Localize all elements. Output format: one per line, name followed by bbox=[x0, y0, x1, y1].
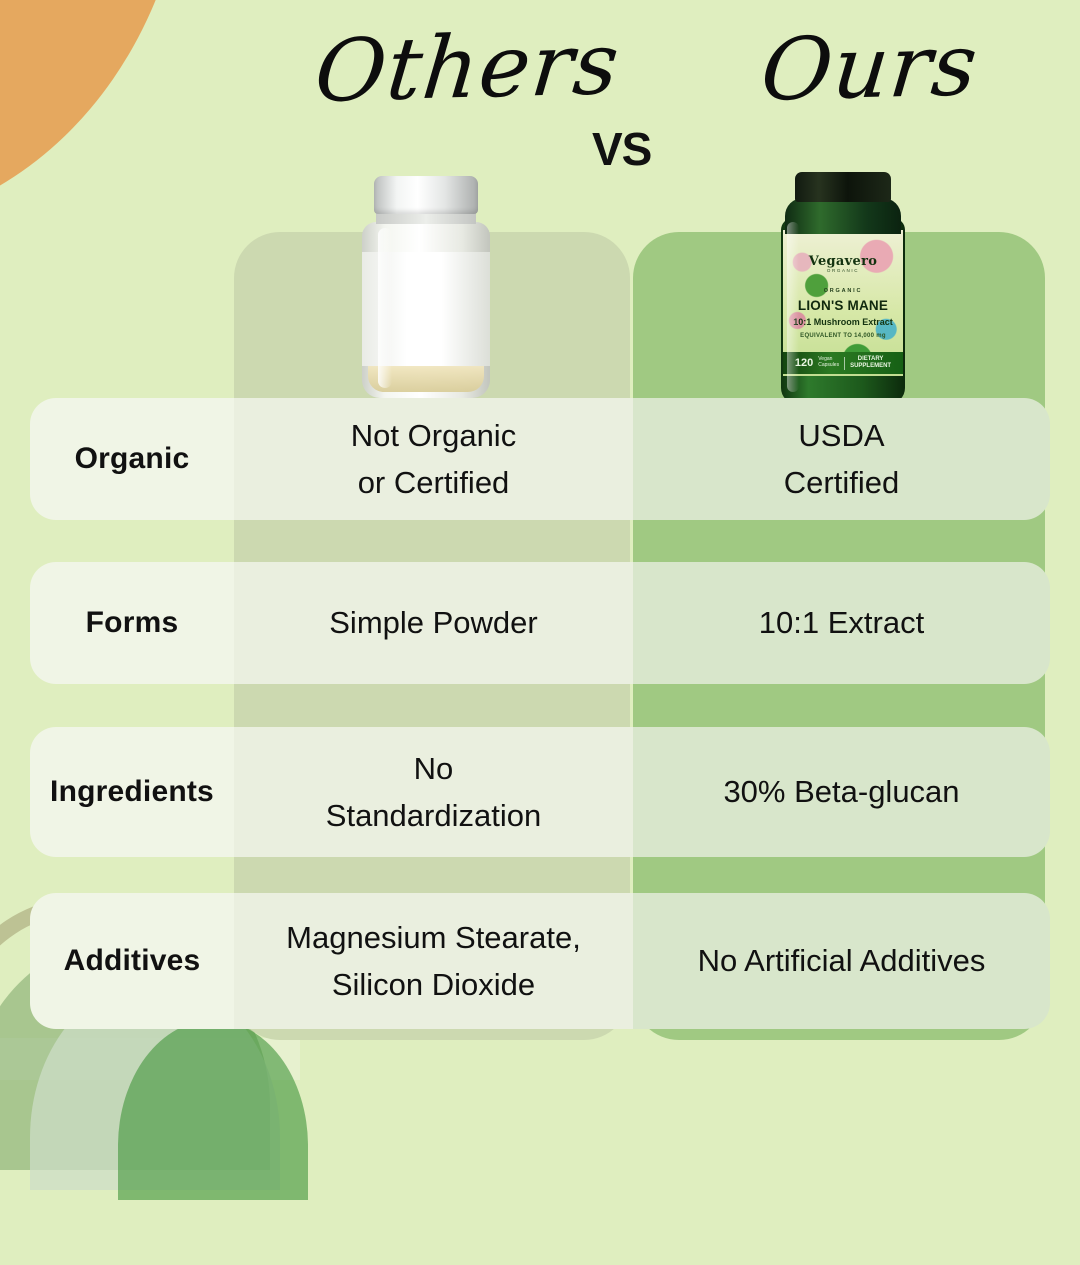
row-value-others: No Standardization bbox=[234, 727, 633, 857]
comparison-infographic: Others VS Ours Vegavero ORGANIC ORGANIC … bbox=[0, 0, 1080, 1080]
row-value-others: Simple Powder bbox=[234, 562, 633, 684]
row-value-others: Not Organic or Certified bbox=[234, 398, 633, 520]
row-value-ours: USDA Certified bbox=[633, 398, 1050, 520]
row-label: Forms bbox=[30, 562, 234, 684]
row-value-ours: 30% Beta-glucan bbox=[633, 727, 1050, 857]
row-value-ours: 10:1 Extract bbox=[633, 562, 1050, 684]
row-value-others-line1: No bbox=[414, 751, 454, 786]
table-row: Forms Simple Powder 10:1 Extract bbox=[30, 562, 1050, 684]
row-value-others-line2: Silicon Dioxide bbox=[332, 967, 535, 1002]
row-label: Organic bbox=[30, 398, 234, 520]
table-row: Ingredients No Standardization 30% Beta-… bbox=[30, 727, 1050, 857]
row-label: Additives bbox=[30, 893, 234, 1029]
row-value-ours: No Artificial Additives bbox=[633, 893, 1050, 1029]
row-value-others: Magnesium Stearate, Silicon Dioxide bbox=[234, 893, 633, 1029]
comparison-table: Organic Not Organic or Certified USDA Ce… bbox=[0, 0, 1080, 1080]
row-value-others-line1: Not Organic bbox=[351, 418, 516, 453]
row-value-others-line1: Magnesium Stearate, bbox=[286, 920, 581, 955]
row-value-others-line2: Standardization bbox=[326, 798, 541, 833]
table-row: Additives Magnesium Stearate, Silicon Di… bbox=[30, 893, 1050, 1029]
row-value-ours-line2: Certified bbox=[784, 465, 899, 500]
row-value-ours-line1: USDA bbox=[798, 418, 884, 453]
row-value-others-line2: or Certified bbox=[358, 465, 510, 500]
table-row: Organic Not Organic or Certified USDA Ce… bbox=[30, 398, 1050, 520]
row-label: Ingredients bbox=[30, 727, 234, 857]
